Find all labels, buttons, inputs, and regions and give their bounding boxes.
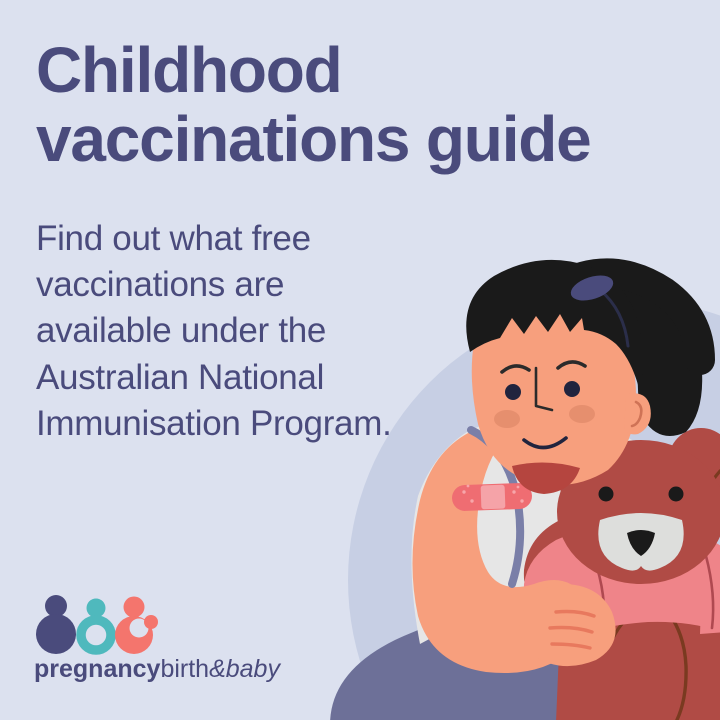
logo-figure-baby: [115, 597, 158, 655]
svg-text:pregnancybirth&baby: pregnancybirth&baby: [34, 655, 281, 683]
logo-figure-parent: [36, 595, 76, 654]
page-subtitle: Find out what free vaccinations are avai…: [36, 216, 426, 447]
logo-figure-child: [81, 599, 111, 651]
poster-canvas: Childhood vaccinations guide Find out wh…: [0, 0, 720, 720]
logo-wordmark-regular: birth: [160, 655, 209, 683]
bandage-icon: [452, 483, 533, 512]
logo-wordmark-bold: pregnancy: [34, 655, 161, 683]
logo-wordmark-italic: &baby: [209, 655, 281, 683]
brand-logo[interactable]: pregnancybirth&baby: [34, 592, 284, 684]
page-title: Childhood vaccinations guide: [36, 36, 676, 174]
